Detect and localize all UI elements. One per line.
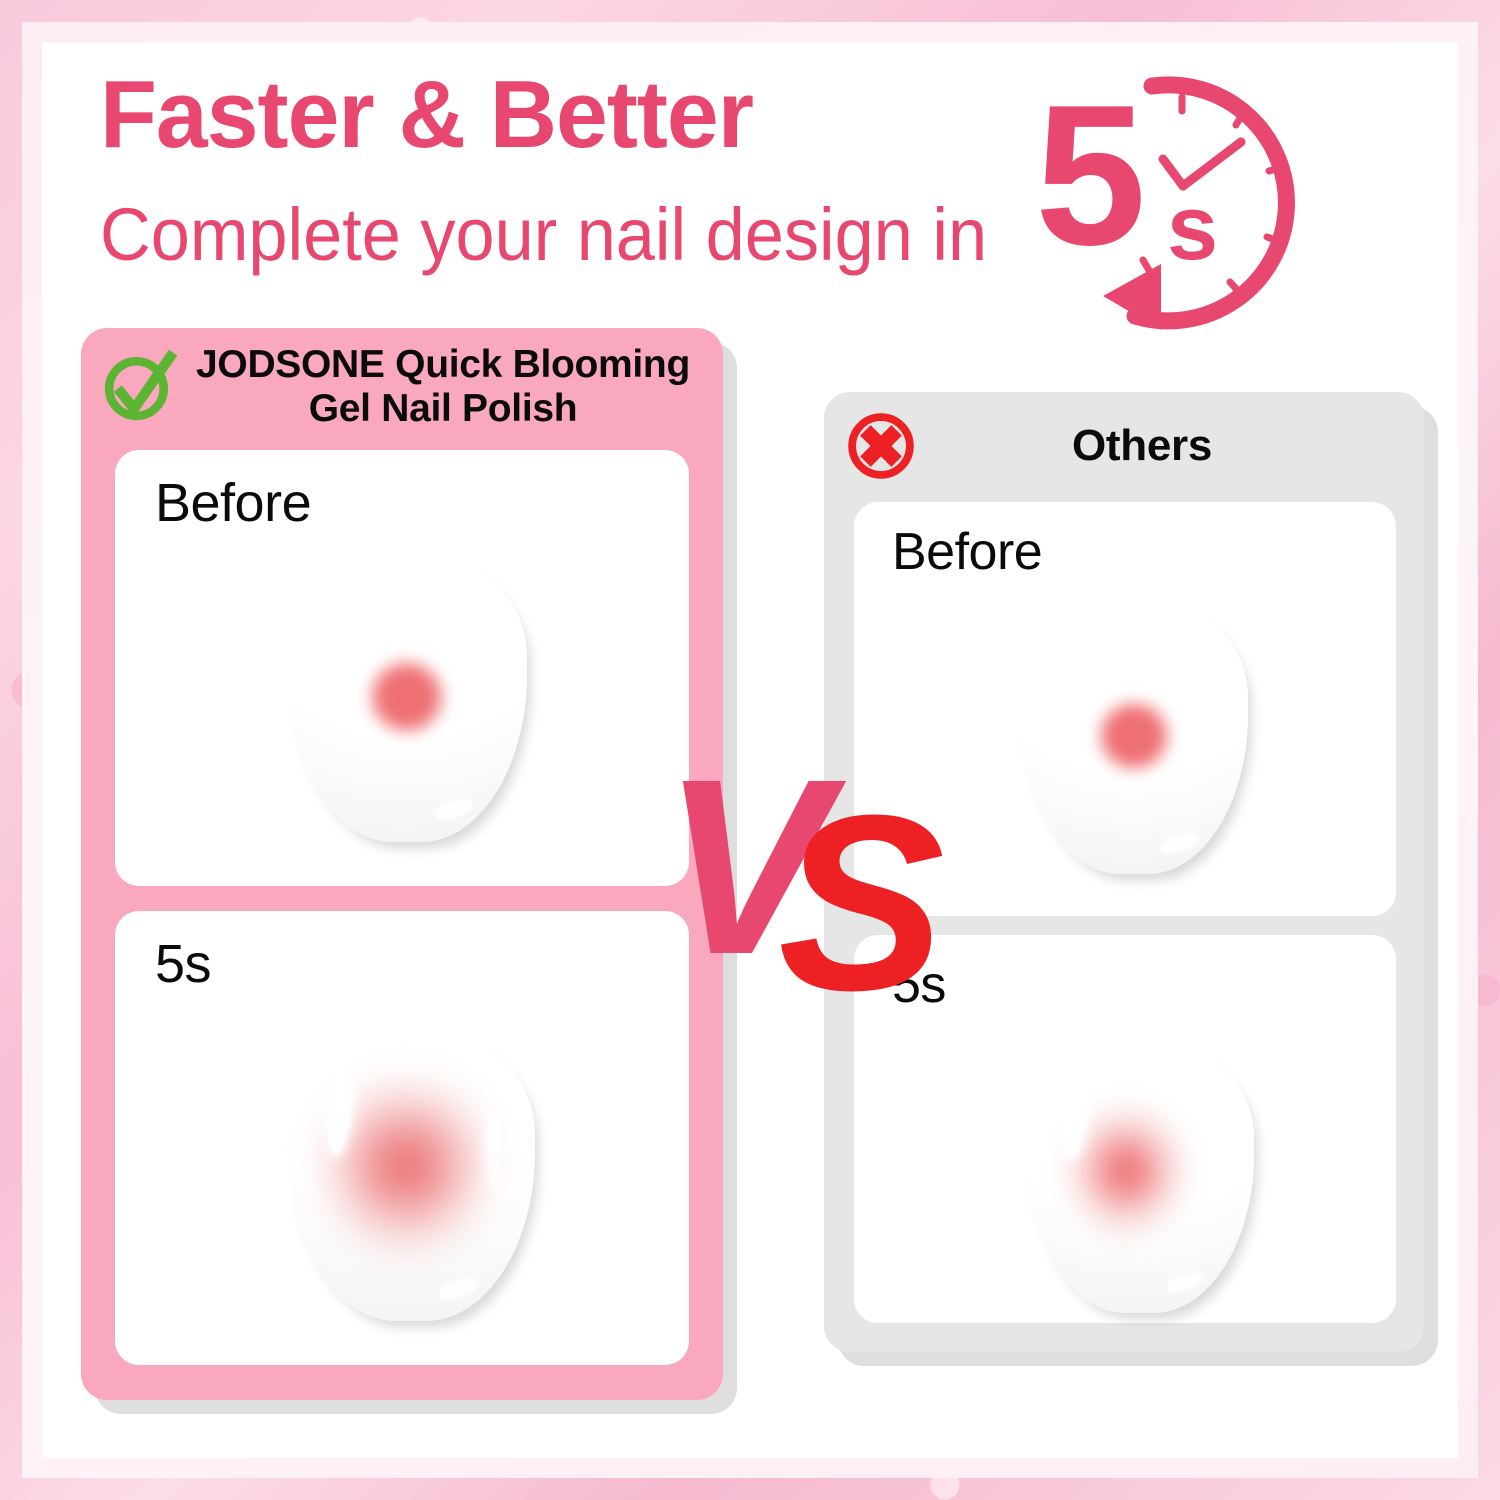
svg-text:s: s <box>1167 177 1218 279</box>
nail-others-before <box>1020 598 1248 874</box>
panel-label-5s: 5s <box>892 955 946 1015</box>
poster-root: Faster & Better Complete your nail desig… <box>0 0 1500 1500</box>
svg-text:5: 5 <box>1035 64 1146 287</box>
card-others-header: Others <box>824 392 1424 500</box>
red-x-circle-icon <box>842 407 920 485</box>
green-check-circle-icon <box>99 348 177 426</box>
card-others: Others Before 5s <box>824 392 1424 1352</box>
panel-others-5s: 5s <box>854 935 1396 1323</box>
card-jodsone-title-line2: Gel Nail Polish <box>177 387 709 431</box>
card-jodsone: JODSONE Quick Blooming Gel Nail Polish B… <box>81 328 723 1400</box>
nail-gloss-highlight <box>487 1111 501 1187</box>
polish-bloom-tight <box>364 655 450 739</box>
polish-bloom-tight <box>1093 696 1175 776</box>
nail-gloss-highlight <box>432 796 476 825</box>
nail-gloss-highlight <box>437 1274 483 1304</box>
panel-label-5s: 5s <box>155 933 211 995</box>
nail-gloss-highlight <box>323 589 354 678</box>
card-jodsone-header: JODSONE Quick Blooming Gel Nail Polish <box>81 328 723 446</box>
panel-label-before: Before <box>892 522 1042 582</box>
clock-5s-icon: 5 s <box>1017 64 1347 364</box>
nail-others-after <box>1026 1039 1254 1313</box>
panel-label-before: Before <box>155 472 311 534</box>
nail-gloss-highlight <box>1210 1116 1223 1187</box>
nail-gloss-highlight <box>1164 1269 1206 1297</box>
card-others-title: Others <box>920 421 1424 470</box>
nail-gloss-highlight <box>480 633 493 708</box>
nail-jodsone-after <box>287 1029 535 1321</box>
nail-gloss-highlight <box>1204 675 1217 747</box>
panel-others-before: Before <box>854 502 1396 916</box>
panel-jodsone-5s: 5s <box>115 911 689 1365</box>
panel-jodsone-before: Before <box>115 450 689 886</box>
card-jodsone-title: JODSONE Quick Blooming Gel Nail Polish <box>177 343 723 430</box>
card-jodsone-title-line1: JODSONE Quick Blooming <box>177 343 709 387</box>
nail-gloss-highlight <box>1157 830 1199 858</box>
nail-jodsone-before <box>287 552 527 842</box>
poster-canvas: Faster & Better Complete your nail desig… <box>42 42 1458 1458</box>
page-subtitle: Complete your nail design in <box>100 192 987 277</box>
page-title: Faster & Better <box>100 60 753 170</box>
nail-gloss-highlight <box>1054 633 1083 717</box>
